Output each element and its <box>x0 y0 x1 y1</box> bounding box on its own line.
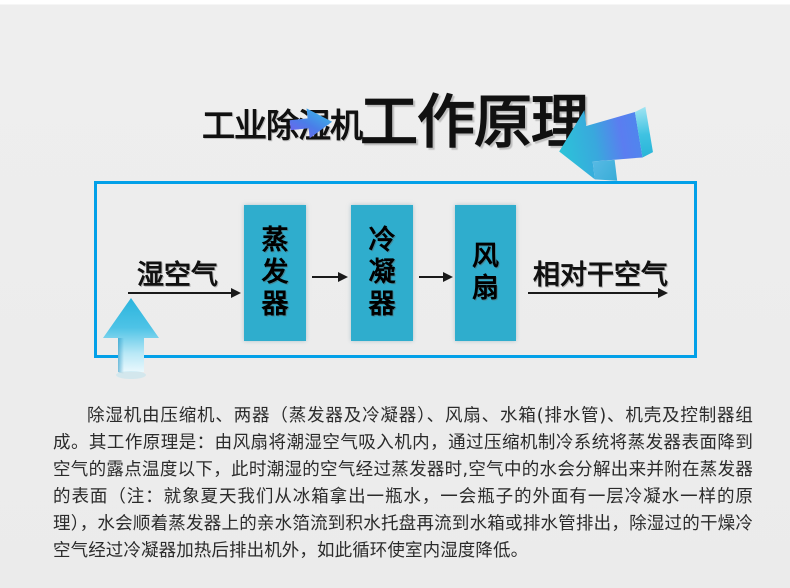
process-box-fan: 风 扇 <box>455 205 516 341</box>
connector-arrow-2-icon <box>419 272 453 282</box>
arrow-right-icon <box>286 102 336 143</box>
arrow-shaft <box>419 276 444 278</box>
evaporator-char-2: 发 <box>262 257 289 289</box>
arrow-up-icon <box>100 296 162 382</box>
evaporator-char-3: 器 <box>262 289 289 321</box>
description-paragraph: 除湿机由压缩机、两器（蒸发器及冷凝器）、风扇、水箱(排水管)、机壳及控制器组成。… <box>53 403 753 565</box>
arrow-shaft <box>128 292 232 294</box>
arrow-head <box>658 288 668 298</box>
condenser-char-3: 器 <box>369 289 396 321</box>
arrow-head <box>443 272 453 282</box>
page-root: 工业除湿机 工作原理 <box>0 0 790 588</box>
evaporator-char-1: 蒸 <box>262 225 289 257</box>
arrow-shaft <box>528 292 659 294</box>
outlet-label: 相对干空气 <box>533 253 668 292</box>
condenser-char-1: 冷 <box>369 225 396 257</box>
arrow-head <box>338 272 348 282</box>
arrow-left-3d-icon <box>552 90 657 188</box>
outlet-flow-arrow-icon <box>528 288 668 298</box>
fan-char-1: 风 <box>472 241 499 273</box>
arrow-shaft <box>312 276 339 278</box>
title-band: 工业除湿机 工作原理 <box>0 40 790 150</box>
process-box-evaporator: 蒸 发 器 <box>244 205 306 341</box>
connector-arrow-1-icon <box>312 272 348 282</box>
inlet-label: 湿空气 <box>137 253 218 292</box>
arrow-head <box>231 288 241 298</box>
title-small-text: 工业除湿机 <box>202 109 362 142</box>
process-box-condenser: 冷 凝 器 <box>351 205 413 341</box>
condenser-char-2: 凝 <box>369 257 396 289</box>
fan-char-2: 扇 <box>472 273 499 305</box>
page-title: 工业除湿机 工作原理 <box>0 40 790 150</box>
